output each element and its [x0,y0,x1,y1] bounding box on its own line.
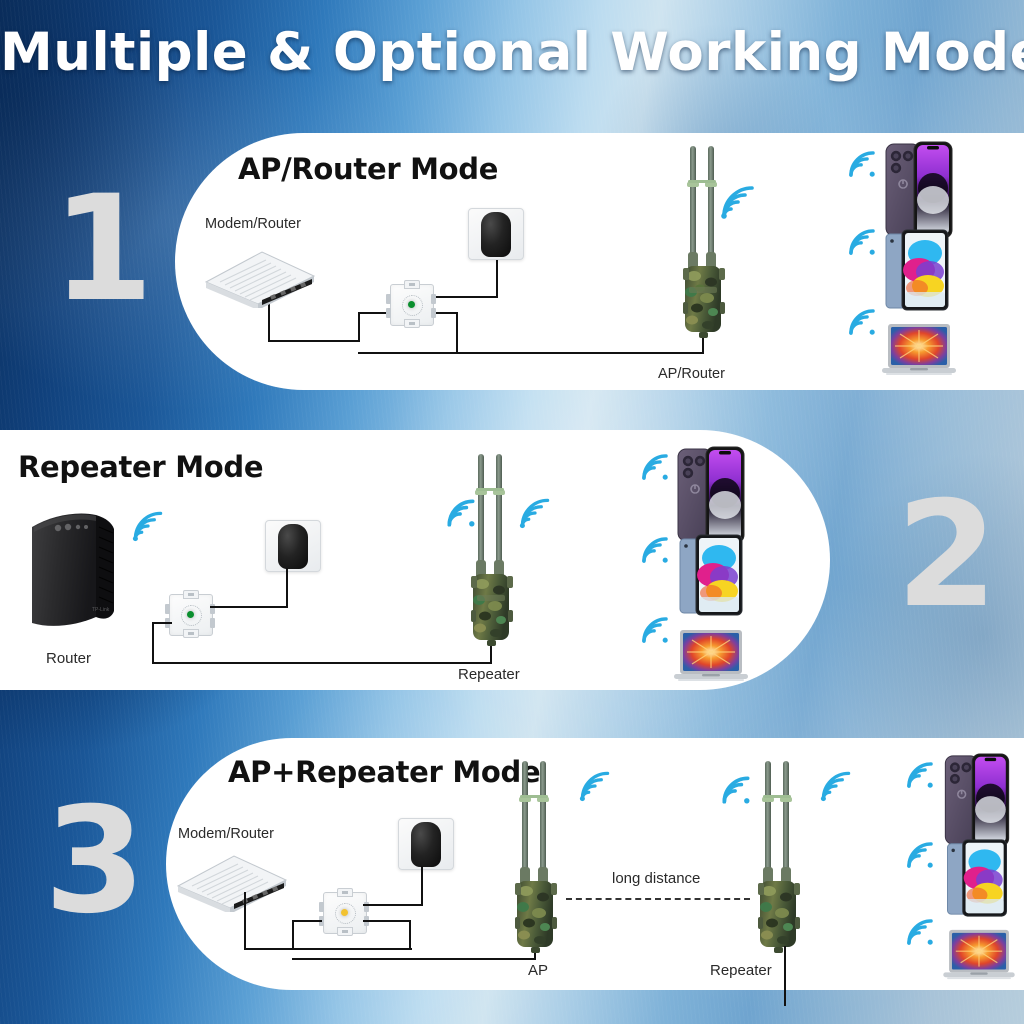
modem-icon-1 [200,238,320,308]
wall-socket-icon-2 [265,520,321,572]
wire-modem-horizontal-3 [244,948,412,950]
poe-port-left-bottom [386,308,391,318]
wifi-icon-client-2b [638,533,672,567]
wifi-icon-repeater-out-2 [517,495,553,531]
poe-led [341,909,348,916]
wifi-icon-repeater-in-3 [718,772,754,808]
ipad-icon-1 [884,228,950,317]
poe-tab-top [183,590,199,599]
page-title: Multiple & Optional Working Modes [0,22,1024,83]
macbook-icon-1 [880,322,958,385]
panel-number-1: 1 [52,176,154,322]
wire-poe-lan-vertical-1 [358,312,360,342]
power-adapter-icon [278,524,308,569]
wifi-icon-client-2c [638,613,672,647]
label-router-2: Router [46,650,91,667]
mode-title-2: Repeater Mode [18,450,263,484]
outdoor-cpe-icon-ap-3 [507,757,565,957]
label-modem-router-3: Modem/Router [178,826,274,842]
wifi-icon-router-2 [130,508,166,544]
wifi-icon-repeater-in-2 [443,495,479,531]
wire-data-down-3 [409,920,411,950]
wifi-icon-client-1a [845,147,879,181]
long-distance-dashed-line [566,898,750,900]
ipad-icon-3 [944,838,1010,923]
poe-injector-icon-3 [317,888,371,936]
wire-poe-lan-out-3 [292,920,322,922]
poe-tab-bottom [337,927,353,936]
wire-to-repeater-2 [152,662,492,664]
wire-adapter-down-2 [286,568,288,608]
wall-socket-icon-3 [398,818,454,870]
poe-port-right-top [431,294,436,304]
macbook-icon-2 [672,628,750,691]
poe-tab-top [404,280,420,289]
svg-text:TP-Link: TP-Link [92,607,110,613]
outdoor-cpe-icon-1 [675,142,733,342]
wire-to-cpe-1 [358,352,704,354]
mode-title-1: AP/Router Mode [238,152,498,186]
ipad-icon-2 [678,533,744,622]
wifi-icon-client-3a [903,758,937,792]
poe-injector-icon-2 [163,590,217,638]
wire-poe-dc-2 [210,606,288,608]
modem-icon-3 [172,842,292,912]
wire-poe-lan-down-2 [152,622,154,664]
poe-tab-bottom [404,319,420,328]
label-modem-router-1: Modem/Router [205,216,301,232]
poe-tab-top [337,888,353,897]
wire-poe-dc-1 [430,296,498,298]
wifi-icon-client-3b [903,838,937,872]
label-repeater-3: Repeater [710,962,772,979]
macbook-icon-3 [940,928,1018,989]
panel-number-3: 3 [44,788,146,934]
power-adapter-icon [411,822,441,867]
label-ap-router-device-1: AP/Router [658,366,725,382]
wifi-icon-client-1b [845,225,879,259]
poe-port-right-bottom [431,308,436,318]
wifi-icon-client-2a [638,450,672,484]
wire-repeater-down-3 [784,946,786,1006]
poe-injector-icon-1 [384,280,438,328]
poe-led [408,301,415,308]
poe-port-left-top [165,604,170,614]
outdoor-cpe-icon-2 [463,450,521,650]
wire-adapter-down-1 [496,258,498,298]
wire-modem-horizontal-1 [268,340,360,342]
wifi-icon-client-3c [903,915,937,949]
infographic-canvas: Multiple & Optional Working Modes 1 AP/R… [0,0,1024,1024]
label-repeater-2: Repeater [458,666,520,683]
poe-port-left-top [319,902,324,912]
outdoor-cpe-icon-repeater-3 [750,757,808,957]
wire-to-ap-3 [292,958,536,960]
power-adapter-icon [481,212,511,257]
poe-port-left-top [386,294,391,304]
label-ap-3: AP [528,962,548,979]
wire-data-down-1 [456,312,458,354]
poe-port-right-bottom [210,618,215,628]
wire-poe-lan-down-3 [292,920,294,950]
mode-title-3: AP+Repeater Mode [228,755,540,789]
wall-socket-icon-1 [468,208,524,260]
wifi-icon-cpe-1 [718,182,758,222]
poe-tab-bottom [183,629,199,638]
wire-poe-lan-out-2 [152,622,172,624]
wire-modem-vertical-3 [244,892,246,950]
mesh-router-icon-2: TP-Link [18,505,126,640]
wire-adapter-down-3 [421,866,423,906]
panel-number-2: 2 [896,482,998,628]
wifi-icon-client-1c [845,305,879,339]
wire-poe-data-out-3 [363,920,411,922]
poe-led [187,611,194,618]
wifi-icon-ap-out-3 [577,768,613,804]
label-long-distance: long distance [612,870,700,887]
wifi-icon-repeater-out-3 [818,768,854,804]
wire-poe-dc-3 [363,904,423,906]
